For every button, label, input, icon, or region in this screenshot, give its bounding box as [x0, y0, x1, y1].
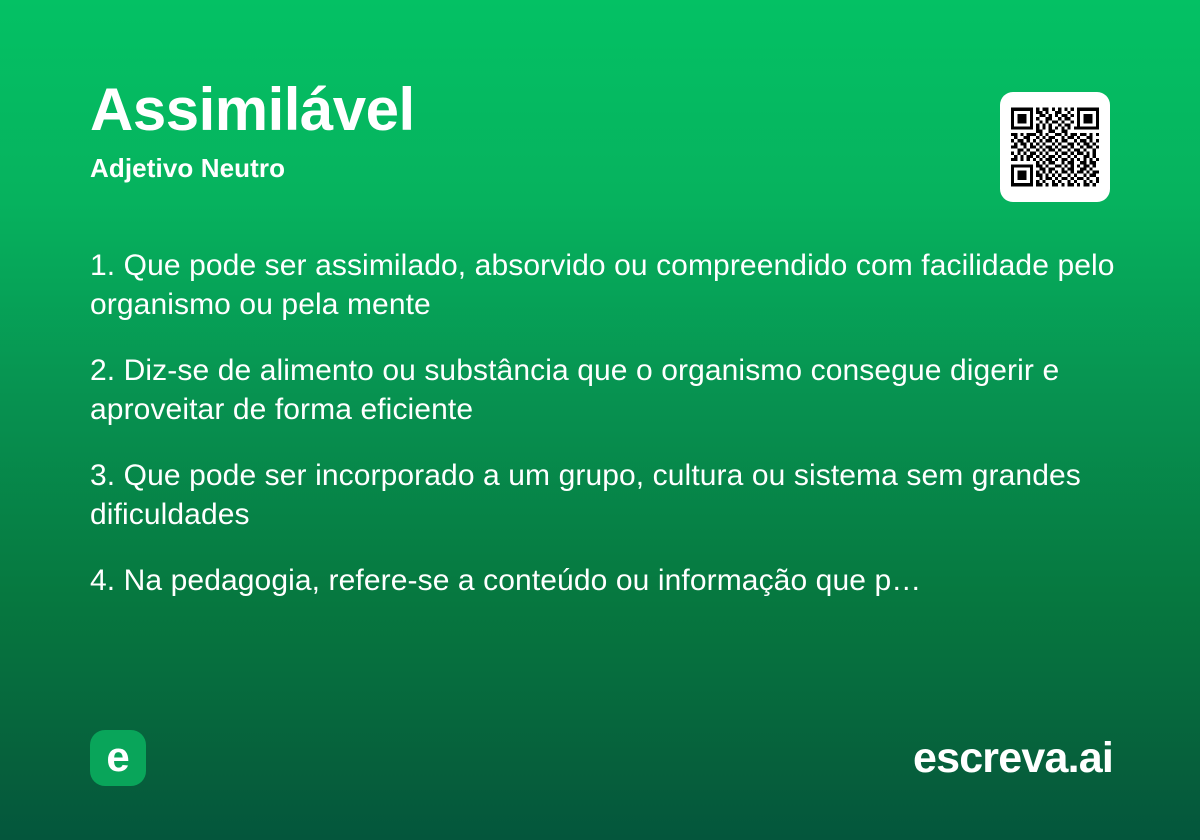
page-title: Assimilável — [90, 78, 415, 143]
qr-code-icon — [1011, 103, 1099, 191]
definition-item: 4. Na pedagogia, refere-se a conteúdo ou… — [90, 561, 1115, 600]
brand-wordmark: escreva.ai — [913, 737, 1113, 780]
logo-letter: e — [106, 736, 129, 778]
title-block: Assimilável Adjetivo Neutro — [90, 78, 415, 184]
escreva-logo-icon[interactable]: e — [90, 730, 146, 786]
word-class-label: Adjetivo Neutro — [90, 153, 415, 184]
definition-item: 3. Que pode ser incorporado a um grupo, … — [90, 456, 1115, 534]
card-footer: e escreva.ai — [90, 728, 1113, 788]
dictionary-card: Assimilável Adjetivo Neutro 1. Que pode … — [0, 0, 1200, 840]
definition-item: 2. Diz-se de alimento ou substância que … — [90, 351, 1115, 429]
definition-list: 1. Que pode ser assimilado, absorvido ou… — [90, 246, 1115, 600]
definition-item: 1. Que pode ser assimilado, absorvido ou… — [90, 246, 1115, 324]
qr-code-card[interactable] — [1000, 92, 1110, 202]
card-header: Assimilável Adjetivo Neutro — [90, 78, 1110, 208]
